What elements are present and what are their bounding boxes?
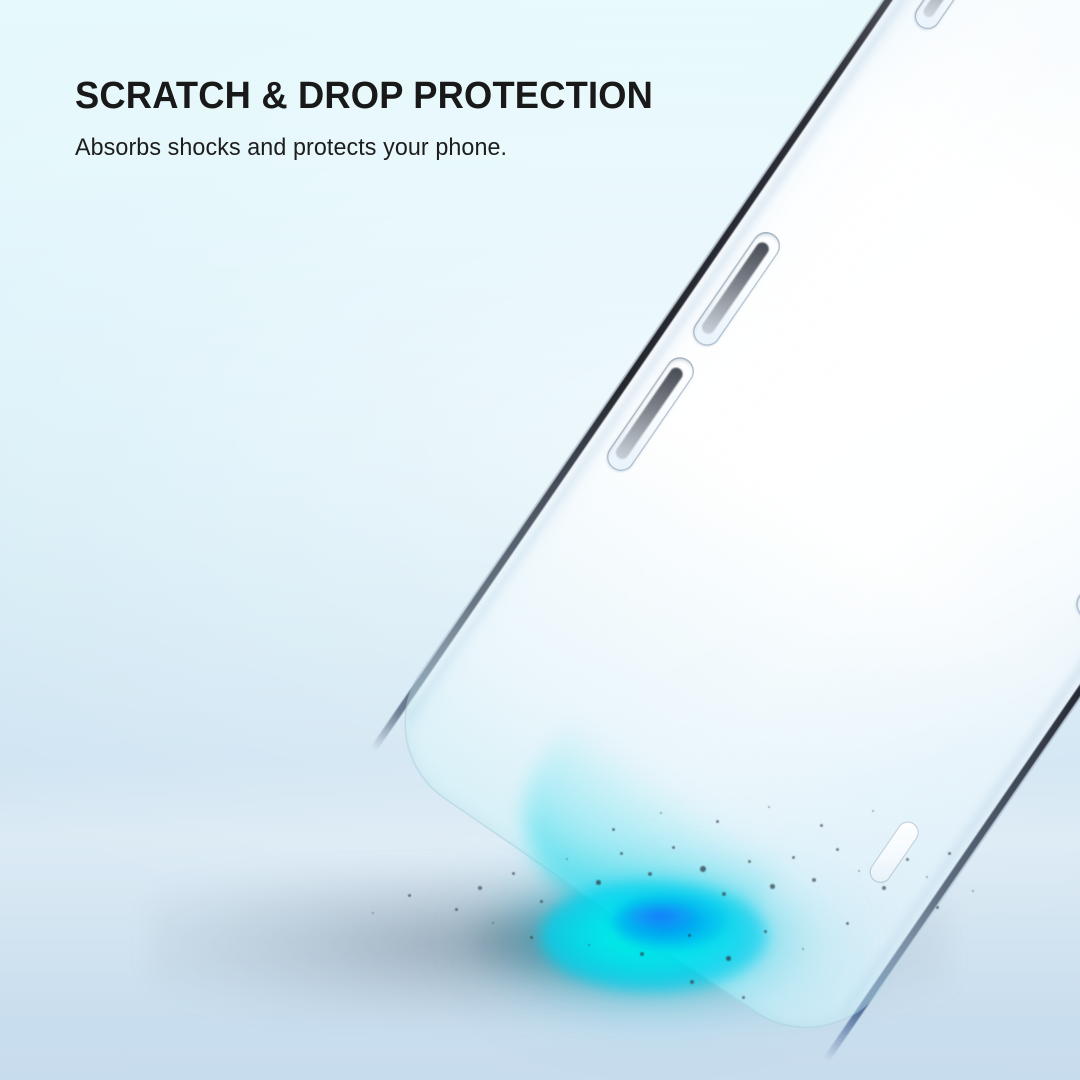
debris-speck bbox=[972, 890, 974, 892]
headline: SCRATCH & DROP PROTECTION bbox=[75, 76, 653, 116]
subheadline: Absorbs shocks and protects your phone. bbox=[75, 134, 662, 162]
product-hero-canvas: SCRATCH & DROP PROTECTION Absorbs shocks… bbox=[0, 0, 1080, 1080]
copy-block: SCRATCH & DROP PROTECTION Absorbs shocks… bbox=[75, 76, 680, 162]
